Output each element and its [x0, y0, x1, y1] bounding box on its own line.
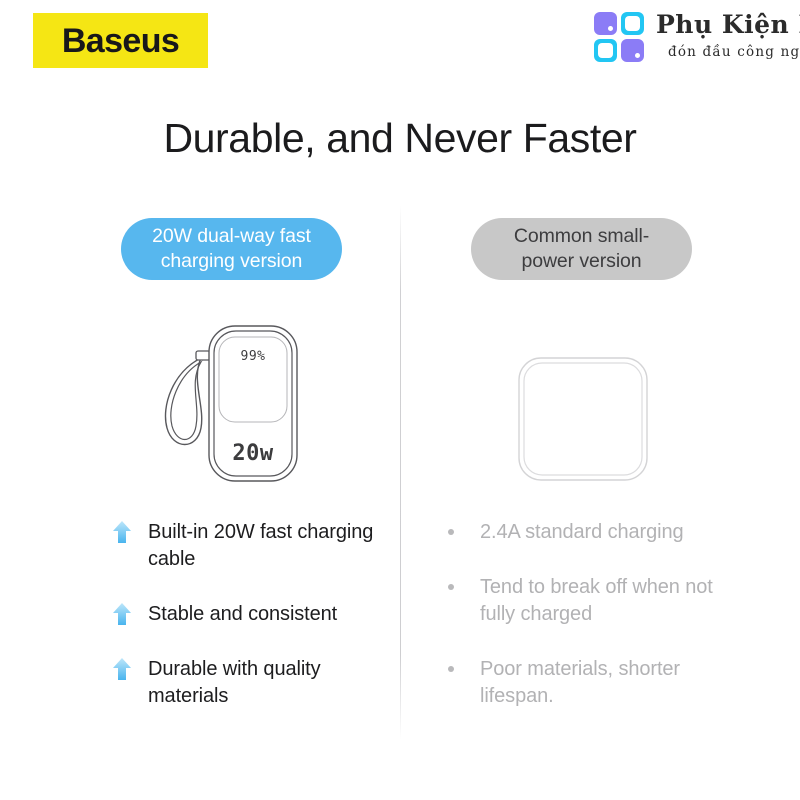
list-item: Durable with quality materials — [112, 656, 377, 710]
dot-icon — [448, 666, 454, 672]
power-bank-illustration: 99% 20w — [143, 310, 338, 505]
right-version-badge: Common small-power version — [471, 218, 692, 280]
list-item: Stable and consistent — [112, 601, 377, 628]
list-item: 2.4A standard charging — [448, 519, 723, 546]
list-item-label: Stable and consistent — [148, 601, 337, 628]
list-item-label: Built-in 20W fast charging cable — [148, 519, 377, 573]
right-column: Common small-power version 2.4A standard… — [400, 0, 800, 800]
product-comparison-page: Baseus Phụ Kiện Dễ Yêu đón đầu công nghệ… — [0, 0, 800, 800]
left-column: 20W dual-way fast charging version 99% 2… — [0, 0, 400, 800]
list-item: Tend to break off when not fully charged — [448, 574, 723, 628]
list-item-label: Poor materials, shorter lifespan. — [480, 656, 723, 710]
dot-icon — [448, 529, 454, 535]
cable-connector — [196, 351, 210, 360]
list-item-label: 2.4A standard charging — [480, 519, 684, 546]
left-version-badge: 20W dual-way fast charging version — [121, 218, 342, 280]
cable-inner-loop — [171, 362, 201, 440]
up-arrow-icon — [112, 520, 132, 544]
up-arrow-icon — [112, 657, 132, 681]
watt-readout: 20w — [232, 441, 273, 466]
plain-charger-illustration — [498, 340, 663, 500]
list-item: Poor materials, shorter lifespan. — [448, 656, 723, 710]
up-arrow-icon — [112, 602, 132, 626]
right-feature-list: 2.4A standard charging Tend to break off… — [448, 519, 723, 710]
left-feature-list: Built-in 20W fast charging cable Stable … — [112, 519, 377, 710]
list-item-label: Durable with quality materials — [148, 656, 377, 710]
dot-icon — [448, 584, 454, 590]
charger-inner-shell — [524, 363, 642, 475]
list-item: Built-in 20W fast charging cable — [112, 519, 377, 573]
list-item-label: Tend to break off when not fully charged — [480, 574, 723, 628]
battery-percent-readout: 99% — [241, 349, 266, 364]
